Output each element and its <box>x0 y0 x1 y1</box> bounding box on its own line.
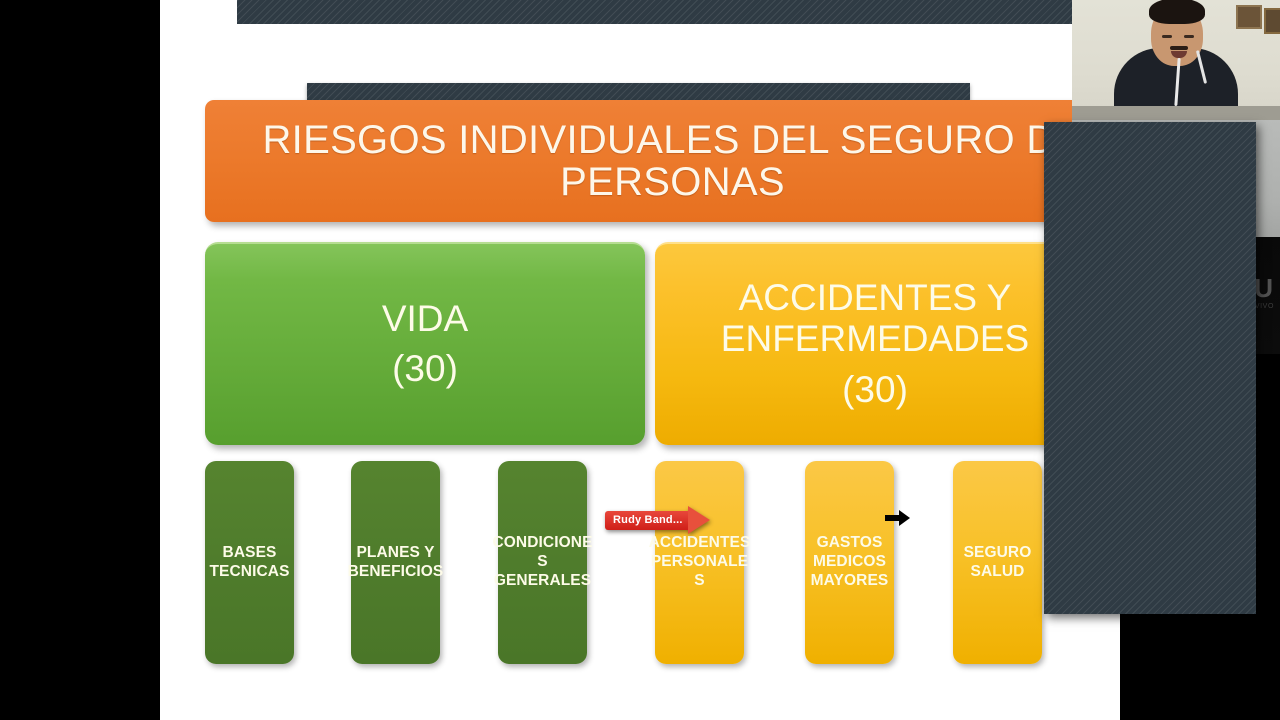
decor-top-bar <box>237 0 1089 24</box>
presenter-pointer-arrow-icon <box>688 506 710 534</box>
category-box-vida: VIDA (30) <box>205 242 645 445</box>
wall-strip <box>1072 106 1280 120</box>
slide-title: RIESGOS INDIVIDUALES DEL SEGURO DE PERSO… <box>219 119 1120 203</box>
category-title-accidentes-enfermedades: ACCIDENTES Y ENFERMEDADES <box>721 277 1029 360</box>
sub-box-gastos-medicos-mayores: GASTOS MEDICOS MAYORES <box>805 461 894 664</box>
category-count-accidentes-enfermedades: (30) <box>842 368 908 412</box>
wall-picture-frame <box>1236 5 1262 29</box>
sub-box-planes-beneficios: PLANES Y BENEFICIOS <box>351 461 440 664</box>
arrow-cursor-icon <box>885 508 911 528</box>
participant-mustache <box>1170 46 1188 50</box>
participant-eye <box>1184 35 1194 38</box>
slide-title-banner: RIESGOS INDIVIDUALES DEL SEGURO DE PERSO… <box>205 100 1120 222</box>
presentation-slide: RIESGOS INDIVIDUALES DEL SEGURO DE PERSO… <box>160 0 1120 720</box>
participant-eye <box>1162 35 1172 38</box>
sub-box-bases-tecnicas: BASES TECNICAS <box>205 461 294 664</box>
presenter-pointer: Rudy Band... <box>605 506 710 534</box>
screen-share-stage: RIESGOS INDIVIDUALES DEL SEGURO DE PERSO… <box>0 0 1280 720</box>
category-title-vida: VIDA <box>382 298 468 339</box>
video-tile-participant-1[interactable] <box>1072 0 1280 120</box>
sub-box-seguro-salud: SEGURO SALUD <box>953 461 1042 664</box>
participant-hair <box>1149 0 1205 24</box>
dark-hatched-overlay-panel <box>1044 122 1256 614</box>
presenter-pointer-label: Rudy Band... <box>605 511 689 530</box>
category-count-vida: (30) <box>392 347 458 391</box>
sub-box-accidentes-personales: ACCIDENTES PERSONALE S <box>655 461 744 664</box>
sub-box-condiciones-generales: CONDICIONE S GENERALES <box>498 461 587 664</box>
wall-picture-frame <box>1264 8 1280 34</box>
category-box-accidentes-enfermedades: ACCIDENTES Y ENFERMEDADES (30) <box>655 242 1095 445</box>
